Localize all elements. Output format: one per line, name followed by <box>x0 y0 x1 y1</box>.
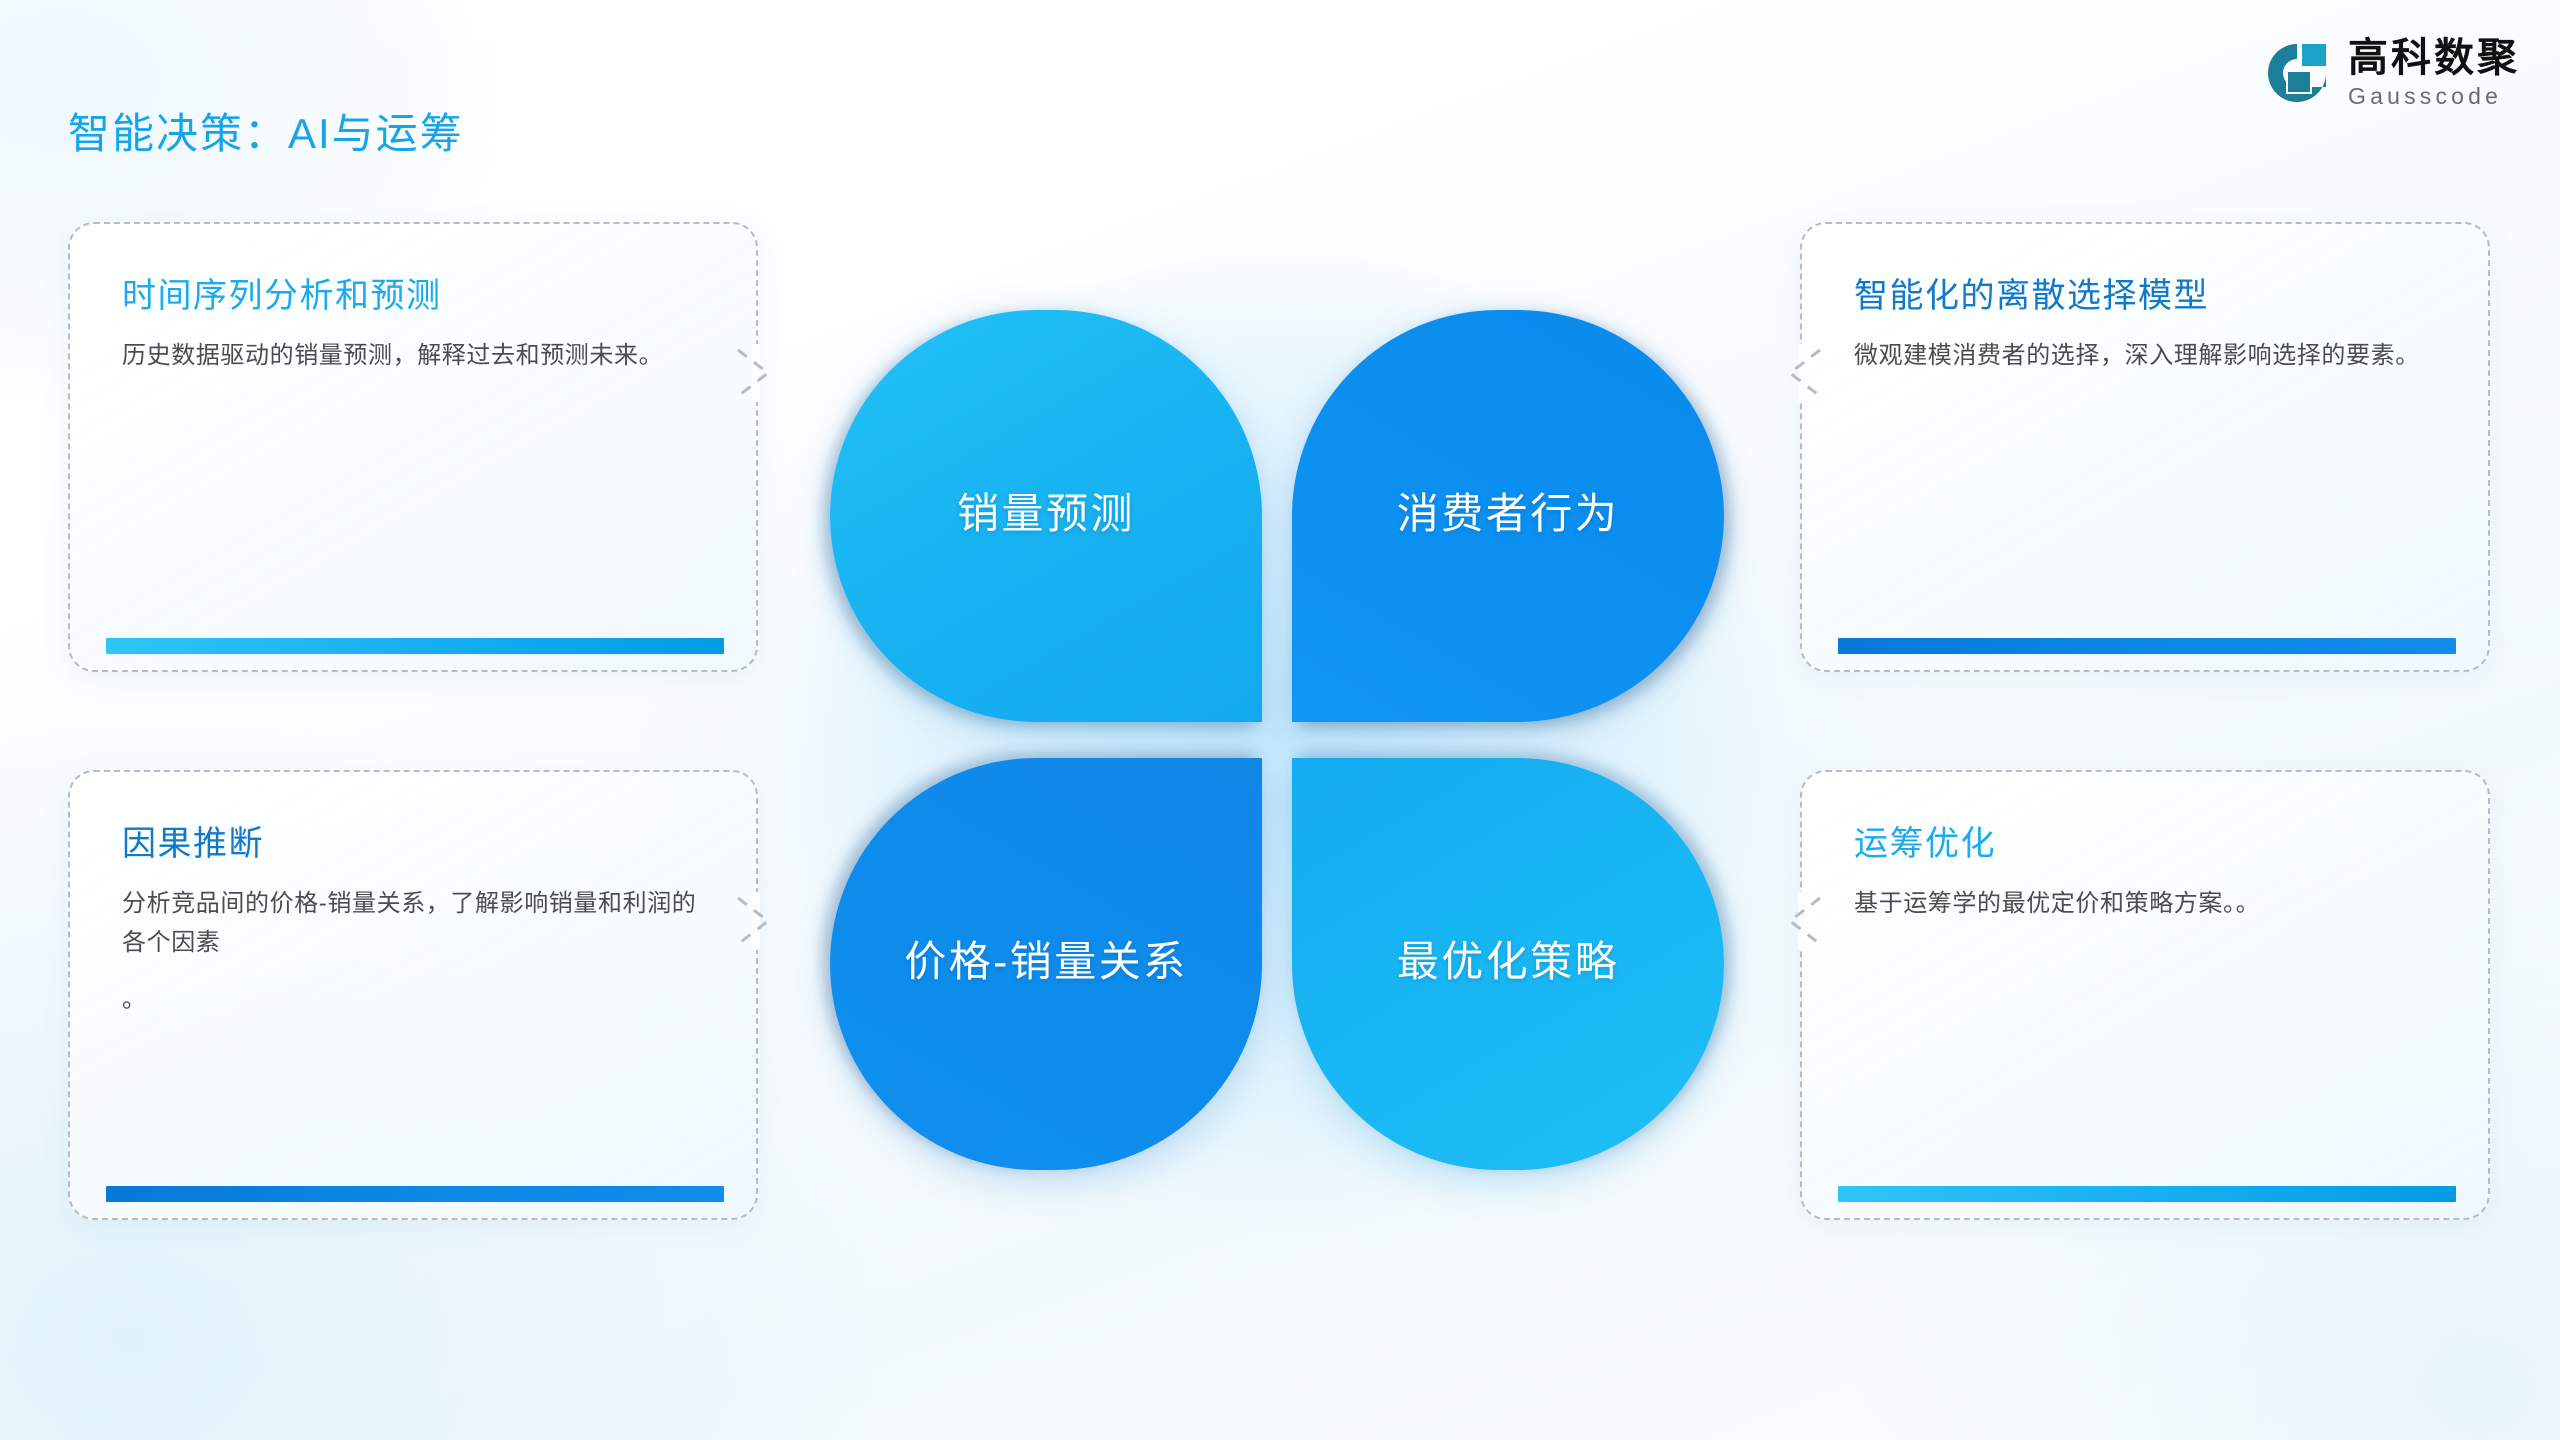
page-title: 智能决策：AI与运筹 <box>68 100 464 161</box>
card-content: 运筹优化 基于运筹学的最优定价和策略方案。。 <box>1802 772 2488 924</box>
card-title: 因果推断 <box>122 824 704 865</box>
brand-wordmark: 高科数聚 Gausscode <box>2348 38 2520 108</box>
card-accent-bar <box>106 638 724 654</box>
petal-label: 销量预测 <box>957 480 1135 541</box>
card-content: 智能化的离散选择模型 微观建模消费者的选择，深入理解影响选择的要素。 <box>1802 224 2488 376</box>
card-description: 微观建模消费者的选择，深入理解影响选择的要素。 <box>1854 337 2436 376</box>
petal-optimal-strategy[interactable]: 最优化策略 <box>1292 758 1724 1170</box>
chevron-right-icon <box>734 344 780 402</box>
petal-label: 消费者行为 <box>1397 480 1620 541</box>
petal-label: 价格-销量关系 <box>904 928 1188 989</box>
card-accent-bar <box>1838 1186 2456 1202</box>
petal-sales-forecast[interactable]: 销量预测 <box>830 310 1262 722</box>
petal-label: 最优化策略 <box>1397 928 1620 989</box>
card-description-tail: 。 <box>122 981 704 1020</box>
card-time-series[interactable]: 时间序列分析和预测 历史数据驱动的销量预测，解释过去和预测未来。 <box>68 222 758 672</box>
petal-cluster: 销量预测 消费者行为 价格-销量关系 最优化策略 <box>830 310 1730 1170</box>
gausscode-g-mark-icon <box>2264 40 2330 106</box>
petal-price-sales-relation[interactable]: 价格-销量关系 <box>830 758 1262 1170</box>
card-description: 基于运筹学的最优定价和策略方案。。 <box>1854 885 2436 924</box>
slide-canvas: 智能决策：AI与运筹 高科数聚 Gausscode 销量预测 消费者行为 价格-… <box>0 0 2560 1440</box>
card-content: 时间序列分析和预测 历史数据驱动的销量预测，解释过去和预测未来。 <box>70 224 756 376</box>
card-content: 因果推断 分析竞品间的价格-销量关系，了解影响销量和利润的各个因素 。 <box>70 772 756 1019</box>
brand-name-cn: 高科数聚 <box>2348 38 2520 78</box>
chevron-right-icon <box>734 892 780 950</box>
brand-logo: 高科数聚 Gausscode <box>2264 38 2520 108</box>
chevron-left-icon <box>1778 344 1824 402</box>
card-description: 历史数据驱动的销量预测，解释过去和预测未来。 <box>122 337 704 376</box>
card-title: 智能化的离散选择模型 <box>1854 276 2436 317</box>
card-description: 分析竞品间的价格-销量关系，了解影响销量和利润的各个因素 <box>122 885 704 963</box>
card-discrete-choice-model[interactable]: 智能化的离散选择模型 微观建模消费者的选择，深入理解影响选择的要素。 <box>1800 222 2490 672</box>
chevron-left-icon <box>1778 892 1824 950</box>
brand-name-en: Gausscode <box>2348 85 2520 108</box>
card-causal-inference[interactable]: 因果推断 分析竞品间的价格-销量关系，了解影响销量和利润的各个因素 。 <box>68 770 758 1220</box>
card-accent-bar <box>106 1186 724 1202</box>
card-operations-optimization[interactable]: 运筹优化 基于运筹学的最优定价和策略方案。。 <box>1800 770 2490 1220</box>
card-accent-bar <box>1838 638 2456 654</box>
card-title: 运筹优化 <box>1854 824 2436 865</box>
petal-consumer-behavior[interactable]: 消费者行为 <box>1292 310 1724 722</box>
card-title: 时间序列分析和预测 <box>122 276 704 317</box>
